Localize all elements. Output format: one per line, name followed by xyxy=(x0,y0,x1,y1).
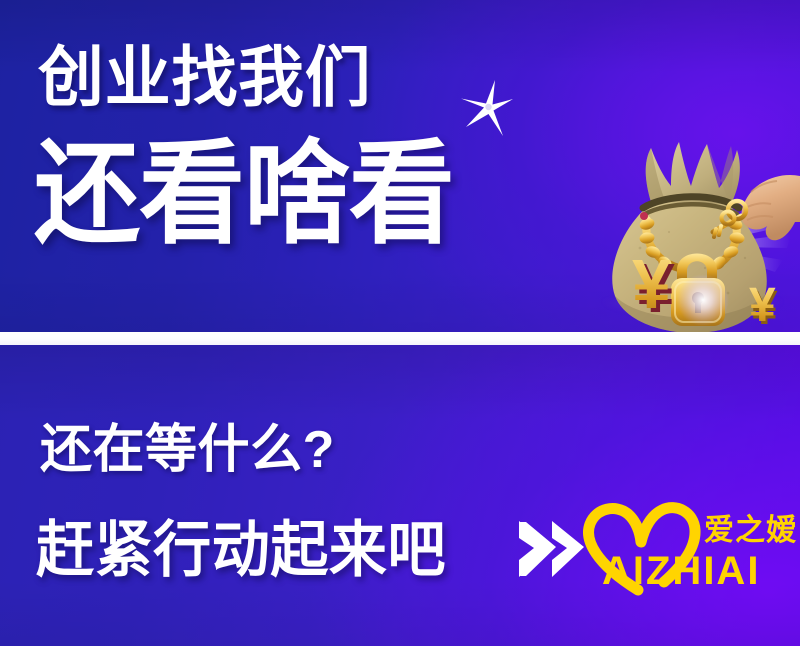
four-point-sparkle-icon xyxy=(455,78,523,142)
logo-wordmark-latin: AIZHIAI xyxy=(602,549,760,593)
svg-text:¥: ¥ xyxy=(749,279,776,332)
promo-poster: 创业找我们 还看啥看 xyxy=(0,0,800,646)
panel-divider xyxy=(0,332,800,345)
svg-text:¥: ¥ xyxy=(632,245,671,323)
headline-secondary: 还看啥看 xyxy=(34,138,454,250)
svg-text:爱之嫒: 爱之嫒 xyxy=(704,513,797,547)
money-bag-artwork: ¥ ¥ ¥ ¥ xyxy=(585,128,800,343)
subhead-primary: 还在等什么? xyxy=(40,424,335,476)
yen-symbol-on-bag: ¥ ¥ xyxy=(632,245,675,327)
headline-primary: 创业找我们 xyxy=(38,44,371,110)
logo-wordmark-cjk: 爱之嫒 xyxy=(704,513,797,547)
subhead-secondary: 赶紧行动起来吧 xyxy=(36,520,446,581)
aizhiai-logo[interactable]: AIZHIAI 爱之嫒 xyxy=(578,494,800,600)
svg-text:AIZHIAI: AIZHIAI xyxy=(602,549,760,593)
yen-symbol-loose: ¥ ¥ xyxy=(749,279,778,335)
